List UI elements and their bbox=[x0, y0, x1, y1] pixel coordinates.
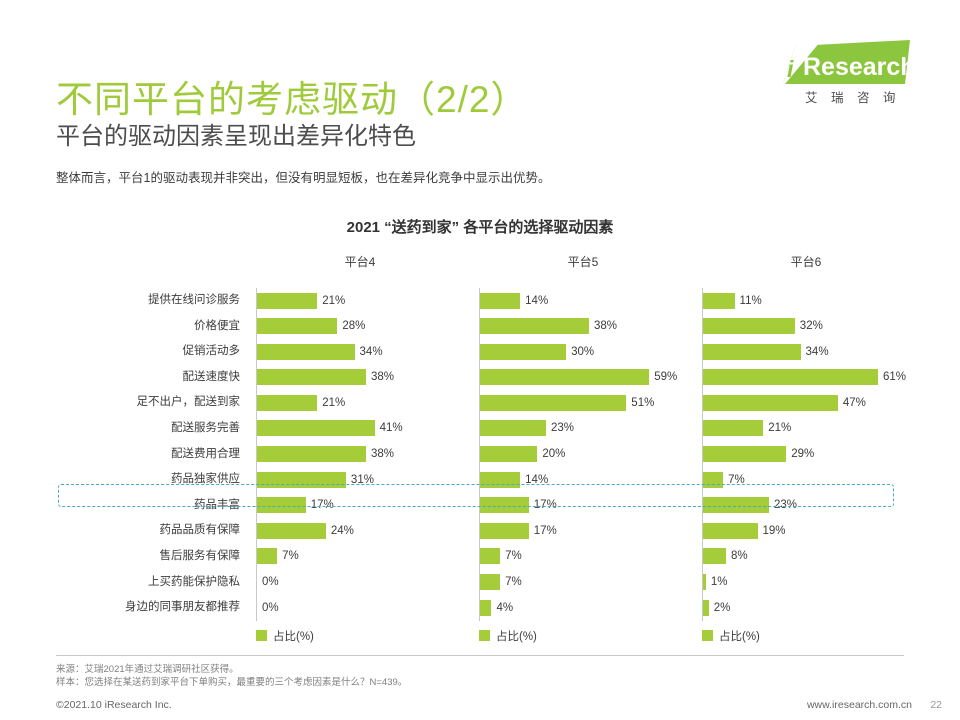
bar-row: 21% bbox=[703, 416, 910, 442]
bar-row: 24% bbox=[257, 518, 464, 544]
bar-value-label: 2% bbox=[709, 600, 731, 616]
bar-row: 23% bbox=[703, 493, 910, 519]
panel-title: 平台6 bbox=[702, 252, 910, 272]
legend-platform5: 占比(%) bbox=[479, 628, 537, 644]
bar bbox=[480, 574, 500, 590]
bar bbox=[480, 318, 589, 334]
legend-swatch-icon bbox=[479, 630, 490, 641]
website-url: www.iresearch.com.cn bbox=[807, 699, 912, 711]
category-label: 上买药能保护隐私 bbox=[56, 570, 248, 596]
bar-value-label: 0% bbox=[257, 574, 279, 590]
bar-row: 0% bbox=[257, 570, 464, 596]
source-note: 来源：艾瑞2021年通过艾瑞调研社区获得。 bbox=[56, 661, 239, 675]
chart-panel-platform5: 平台5 14%38%30%59%51%23%20%14%17%17%7%7%4%… bbox=[479, 252, 687, 272]
bar-value-label: 61% bbox=[878, 369, 906, 385]
bar bbox=[480, 420, 546, 436]
bar bbox=[480, 600, 491, 616]
bar-row: 7% bbox=[257, 544, 464, 570]
bar-row: 8% bbox=[703, 544, 910, 570]
bar bbox=[257, 395, 317, 411]
bar-row: 59% bbox=[480, 365, 687, 391]
category-label: 药品丰富 bbox=[56, 493, 248, 519]
bar-row: 7% bbox=[703, 467, 910, 493]
legend-swatch-icon bbox=[702, 630, 713, 641]
bar bbox=[703, 395, 838, 411]
bar bbox=[257, 344, 355, 360]
category-axis-labels: 提供在线问诊服务价格便宜促销活动多配送速度快足不出户，配送到家配送服务完善配送费… bbox=[56, 288, 248, 621]
bar-row: 23% bbox=[480, 416, 687, 442]
bar bbox=[257, 369, 366, 385]
panel-bars: 11%32%34%61%47%21%29%7%23%19%8%1%2% bbox=[702, 288, 910, 621]
page-subtitle: 平台的驱动因素呈现出差异化特色 bbox=[56, 116, 416, 151]
bar-value-label: 31% bbox=[346, 472, 374, 488]
bar-row: 34% bbox=[257, 339, 464, 365]
category-label: 售后服务有保障 bbox=[56, 544, 248, 570]
category-label: 配送费用合理 bbox=[56, 442, 248, 468]
bar-row: 14% bbox=[480, 288, 687, 314]
bar-value-label: 0% bbox=[257, 600, 279, 616]
bar-row: 34% bbox=[703, 339, 910, 365]
bar bbox=[480, 369, 649, 385]
bar-row: 47% bbox=[703, 390, 910, 416]
bar bbox=[257, 446, 366, 462]
bar-row: 7% bbox=[480, 544, 687, 570]
bar-row: 21% bbox=[257, 390, 464, 416]
bar-value-label: 21% bbox=[317, 293, 345, 309]
bar-value-label: 38% bbox=[366, 369, 394, 385]
legend-label: 占比(%) bbox=[719, 631, 760, 643]
bar-row: 14% bbox=[480, 467, 687, 493]
bar-row: 38% bbox=[480, 314, 687, 340]
bar-row: 20% bbox=[480, 442, 687, 468]
bar-row: 4% bbox=[480, 595, 687, 621]
panel-title: 平台5 bbox=[479, 252, 687, 272]
bar bbox=[257, 420, 375, 436]
bar bbox=[703, 344, 801, 360]
bar-value-label: 21% bbox=[317, 395, 345, 411]
bar bbox=[257, 523, 326, 539]
panel-title: 平台4 bbox=[256, 252, 464, 272]
bar-row: 38% bbox=[257, 365, 464, 391]
bar bbox=[480, 497, 529, 513]
bar bbox=[480, 344, 566, 360]
page-number: 22 bbox=[930, 699, 942, 711]
copyright-text: ©2021.10 iResearch Inc. bbox=[56, 699, 172, 711]
bar-value-label: 23% bbox=[769, 497, 797, 513]
bar-value-label: 17% bbox=[529, 523, 557, 539]
bar-value-label: 4% bbox=[491, 600, 513, 616]
bar-row: 28% bbox=[257, 314, 464, 340]
bar-row: 19% bbox=[703, 518, 910, 544]
bar-value-label: 47% bbox=[838, 395, 866, 411]
category-label: 药品品质有保障 bbox=[56, 518, 248, 544]
bar-value-label: 7% bbox=[723, 472, 745, 488]
bar-row: 51% bbox=[480, 390, 687, 416]
bar-row: 7% bbox=[480, 570, 687, 596]
bar-value-label: 19% bbox=[758, 523, 786, 539]
legend-platform6: 占比(%) bbox=[702, 628, 760, 644]
logo-chinese-name: 艾 瑞 咨 询 bbox=[805, 87, 900, 106]
logo-letter-i: i bbox=[787, 56, 793, 83]
bar-value-label: 11% bbox=[735, 293, 762, 309]
bar-row: 31% bbox=[257, 467, 464, 493]
bar-row: 2% bbox=[703, 595, 910, 621]
bar-row: 11% bbox=[703, 288, 910, 314]
category-label: 身边的同事朋友都推荐 bbox=[56, 595, 248, 621]
bar-value-label: 28% bbox=[337, 318, 365, 334]
bar-row: 17% bbox=[257, 493, 464, 519]
bar bbox=[257, 293, 317, 309]
bar-value-label: 29% bbox=[786, 446, 814, 462]
bar bbox=[480, 293, 520, 309]
bar-row: 21% bbox=[257, 288, 464, 314]
bar-value-label: 32% bbox=[795, 318, 823, 334]
chart-panel-platform4: 平台4 21%28%34%38%21%41%38%31%17%24%7%0%0%… bbox=[256, 252, 464, 272]
bar bbox=[703, 420, 763, 436]
bar-row: 32% bbox=[703, 314, 910, 340]
page-title: 不同平台的考虑驱动（2/2） bbox=[56, 69, 528, 123]
bar-value-label: 59% bbox=[649, 369, 677, 385]
chart-area: 提供在线问诊服务价格便宜促销活动多配送速度快足不出户，配送到家配送服务完善配送费… bbox=[56, 252, 906, 652]
legend-swatch-icon bbox=[256, 630, 267, 641]
bar bbox=[703, 369, 878, 385]
category-label: 价格便宜 bbox=[56, 314, 248, 340]
bar bbox=[257, 318, 337, 334]
chart-panel-platform6: 平台6 11%32%34%61%47%21%29%7%23%19%8%1%2% … bbox=[702, 252, 910, 272]
bar bbox=[703, 523, 758, 539]
bar-row: 30% bbox=[480, 339, 687, 365]
bar-value-label: 51% bbox=[626, 395, 654, 411]
slide: 不同平台的考虑驱动（2/2） 平台的驱动因素呈现出差异化特色 整体而言，平台1的… bbox=[0, 0, 960, 720]
bar-value-label: 7% bbox=[277, 548, 299, 564]
legend-label: 占比(%) bbox=[496, 631, 537, 643]
bar bbox=[703, 497, 769, 513]
bar bbox=[257, 548, 277, 564]
bar-value-label: 41% bbox=[375, 420, 403, 436]
category-label: 配送服务完善 bbox=[56, 416, 248, 442]
logo-wordmark: Research bbox=[803, 53, 916, 82]
bar-value-label: 24% bbox=[326, 523, 354, 539]
bar-row: 1% bbox=[703, 570, 910, 596]
bar bbox=[480, 523, 529, 539]
bar-value-label: 17% bbox=[529, 497, 557, 513]
category-label: 提供在线问诊服务 bbox=[56, 288, 248, 314]
bar-value-label: 7% bbox=[500, 574, 522, 590]
bar-row: 0% bbox=[257, 595, 464, 621]
bar bbox=[480, 472, 520, 488]
bar-row: 41% bbox=[257, 416, 464, 442]
bar-value-label: 1% bbox=[706, 574, 728, 590]
bar-row: 61% bbox=[703, 365, 910, 391]
bar-row: 17% bbox=[480, 518, 687, 544]
bar bbox=[703, 446, 786, 462]
bar bbox=[703, 548, 726, 564]
iresearch-logo: i Research 艾 瑞 咨 询 bbox=[765, 40, 910, 110]
category-label: 配送速度快 bbox=[56, 365, 248, 391]
bar bbox=[480, 446, 537, 462]
bar bbox=[703, 318, 795, 334]
bar bbox=[257, 497, 306, 513]
legend-label: 占比(%) bbox=[273, 631, 314, 643]
panel-bars: 14%38%30%59%51%23%20%14%17%17%7%7%4% bbox=[479, 288, 687, 621]
bar-value-label: 38% bbox=[366, 446, 394, 462]
bar-value-label: 21% bbox=[763, 420, 791, 436]
bar bbox=[480, 395, 626, 411]
sample-note: 样本：您选择在某送药到家平台下单购买，最重要的三个考虑因素是什么？N=439。 bbox=[56, 674, 407, 688]
bar-value-label: 17% bbox=[306, 497, 334, 513]
bar-value-label: 8% bbox=[726, 548, 748, 564]
bar-value-label: 34% bbox=[801, 344, 829, 360]
bar-value-label: 23% bbox=[546, 420, 574, 436]
bar-value-label: 20% bbox=[537, 446, 565, 462]
footer-divider bbox=[56, 655, 904, 656]
bar-value-label: 14% bbox=[520, 472, 548, 488]
panel-bars: 21%28%34%38%21%41%38%31%17%24%7%0%0% bbox=[256, 288, 464, 621]
bar-value-label: 14% bbox=[520, 293, 548, 309]
lead-paragraph: 整体而言，平台1的驱动表现并非突出，但没有明显短板，也在差异化竞争中显示出优势。 bbox=[56, 167, 550, 186]
category-label: 促销活动多 bbox=[56, 339, 248, 365]
category-label: 足不出户，配送到家 bbox=[56, 390, 248, 416]
bar bbox=[703, 293, 735, 309]
bar-value-label: 34% bbox=[355, 344, 383, 360]
bar-row: 29% bbox=[703, 442, 910, 468]
legend-platform4: 占比(%) bbox=[256, 628, 314, 644]
bar bbox=[257, 472, 346, 488]
bar-value-label: 30% bbox=[566, 344, 594, 360]
bar-row: 17% bbox=[480, 493, 687, 519]
bar bbox=[703, 472, 723, 488]
bar-value-label: 38% bbox=[589, 318, 617, 334]
bar-value-label: 7% bbox=[500, 548, 522, 564]
category-label: 药品独家供应 bbox=[56, 467, 248, 493]
chart-title: 2021 “送药到家” 各平台的选择驱动因素 bbox=[0, 216, 960, 237]
bar bbox=[480, 548, 500, 564]
bar-row: 38% bbox=[257, 442, 464, 468]
